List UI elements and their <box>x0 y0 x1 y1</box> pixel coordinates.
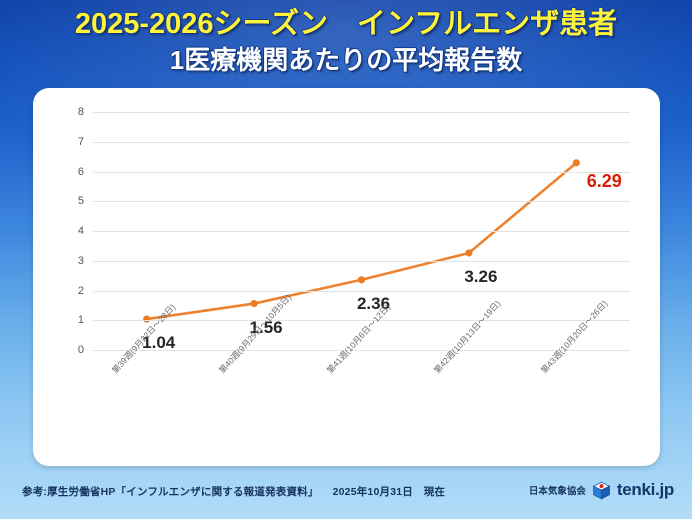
data-point-marker[interactable] <box>358 276 365 283</box>
y-axis-tick-label: 0 <box>78 344 84 356</box>
data-point-marker[interactable] <box>465 249 472 256</box>
y-gridline <box>93 320 630 321</box>
poster-root: 2025-2026シーズン インフルエンザ患者 1医療機関あたりの平均報告数 0… <box>0 0 692 519</box>
y-axis-tick-label: 2 <box>78 285 84 297</box>
chart-grid-area: 012345678 <box>93 112 630 350</box>
y-gridline <box>93 142 630 143</box>
y-gridline <box>93 112 630 113</box>
y-axis-tick-label: 8 <box>78 106 84 118</box>
y-gridline <box>93 231 630 232</box>
brand-org-label: 日本気象協会 <box>529 483 586 497</box>
tenki-cube-logo-icon <box>592 481 611 500</box>
data-point-marker[interactable] <box>251 300 258 307</box>
chart-plot: 012345678 1.041.562.363.266.29第39週(9月22日… <box>33 88 660 466</box>
y-gridline <box>93 201 630 202</box>
brand-block[interactable]: 日本気象協会 tenki.jp <box>529 480 674 500</box>
source-date: 2025年10月31日 現在 <box>333 486 446 498</box>
source-note: 参考:厚生労働省HP「インフルエンザに関する報道発表資料」2025年10月31日… <box>22 484 445 499</box>
brand-name-label: tenki.jp <box>617 480 674 500</box>
poster-header: 2025-2026シーズン インフルエンザ患者 1医療機関あたりの平均報告数 <box>0 0 692 84</box>
page-title-line2: 1医療機関あたりの平均報告数 <box>0 43 692 77</box>
data-point-label: 3.26 <box>464 267 497 287</box>
y-axis-tick-label: 5 <box>78 195 84 207</box>
data-point-label: 6.29 <box>587 171 622 192</box>
y-axis-tick-label: 7 <box>78 136 84 148</box>
y-gridline <box>93 291 630 292</box>
data-point-marker[interactable] <box>573 159 580 166</box>
chart-card: 012345678 1.041.562.363.266.29第39週(9月22日… <box>33 88 660 466</box>
poster-footer: 参考:厚生労働省HP「インフルエンザに関する報道発表資料」2025年10月31日… <box>0 466 692 519</box>
source-label: 参考:厚生労働省HP「インフルエンザに関する報道発表資料」 <box>22 486 319 498</box>
y-axis-tick-label: 3 <box>78 255 84 267</box>
y-axis-tick-label: 1 <box>78 314 84 326</box>
y-axis-tick-label: 6 <box>78 166 84 178</box>
y-gridline <box>93 172 630 173</box>
y-gridline <box>93 261 630 262</box>
page-title-line1: 2025-2026シーズン インフルエンザ患者 <box>0 0 692 43</box>
y-axis-tick-label: 4 <box>78 225 84 237</box>
